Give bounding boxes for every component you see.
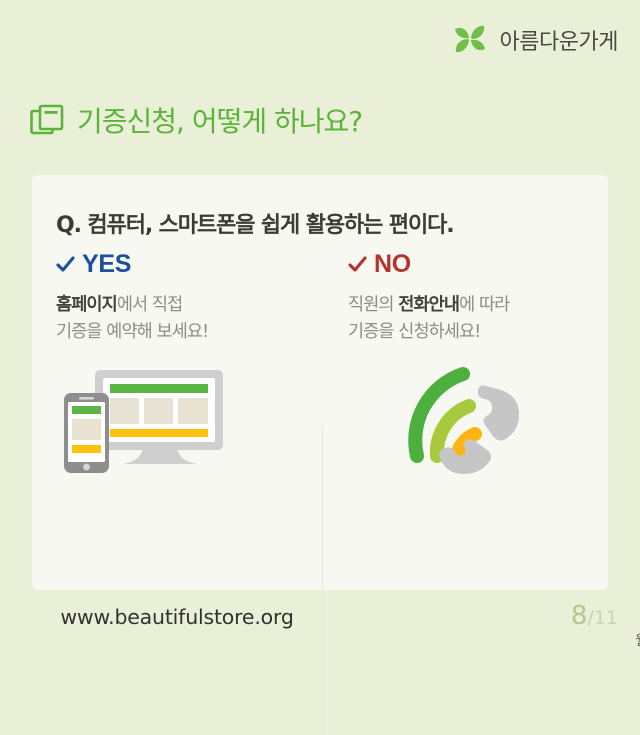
check-mark-icon — [348, 255, 367, 274]
phone-hours: 월~토 09:00~18:00 (일요일, 공휴일 제외) — [611, 629, 640, 649]
answer-description-yes: 홈페이지에서 직접 기증을 예약해 보세요! — [56, 292, 320, 345]
column-divider — [322, 425, 323, 735]
answer-line2-yes: 기증을 예약해 보세요! — [56, 322, 208, 342]
answer-column-yes: YES 홈페이지에서 직접 기증을 예약해 보세요! — [32, 250, 320, 345]
question-text: Q. 컴퓨터, 스마트폰을 쉽게 활용하는 편이다. — [56, 207, 454, 239]
answer-line1-rest-yes: 에서 직접 — [117, 295, 182, 315]
answer-emphasis-no: 전화안내 — [398, 295, 459, 315]
content-card: Q. 컴퓨터, 스마트폰을 쉽게 활용하는 편이다. YES 홈페이지에서 직접… — [32, 175, 608, 590]
answer-heading-no: NO — [348, 250, 608, 278]
brand-name: 아름다운가게 — [500, 24, 618, 56]
page-indicator: 8 /11 — [571, 601, 618, 631]
answer-line1-suffix-no: 에 따라 — [459, 295, 509, 315]
answer-line2-no: 기증을 신청하세요! — [348, 322, 480, 342]
answer-label-no: NO — [374, 250, 411, 279]
four-leaf-clover-icon — [448, 18, 492, 62]
page-title: 기증신청, 어떻게 하나요? — [77, 100, 362, 140]
answer-heading-yes: YES — [56, 250, 320, 278]
telephone-handset-with-signal-icon — [405, 362, 530, 480]
answer-emphasis-yes: 홈페이지 — [56, 295, 117, 315]
brand-logo: 아름다운가게 — [448, 18, 618, 62]
answer-label-yes: YES — [82, 250, 131, 279]
page-total: /11 — [587, 607, 618, 629]
page-title-row: 기증신청, 어떻게 하나요? — [30, 100, 362, 140]
answer-column-no: NO 직원의 전화안내에 따라 기증을 신청하세요! — [320, 250, 608, 345]
website-url[interactable]: www.beautifulstore.org — [32, 605, 322, 629]
answer-description-no: 직원의 전화안내에 따라 기증을 신청하세요! — [348, 292, 608, 345]
check-mark-icon — [56, 255, 75, 274]
copy-documents-icon — [30, 103, 64, 137]
page-current: 8 — [571, 601, 588, 631]
answer-line1-prefix-no: 직원의 — [348, 295, 398, 315]
answer-columns: YES 홈페이지에서 직접 기증을 예약해 보세요! — [32, 250, 608, 345]
desktop-monitor-and-smartphone-icon — [60, 368, 260, 480]
